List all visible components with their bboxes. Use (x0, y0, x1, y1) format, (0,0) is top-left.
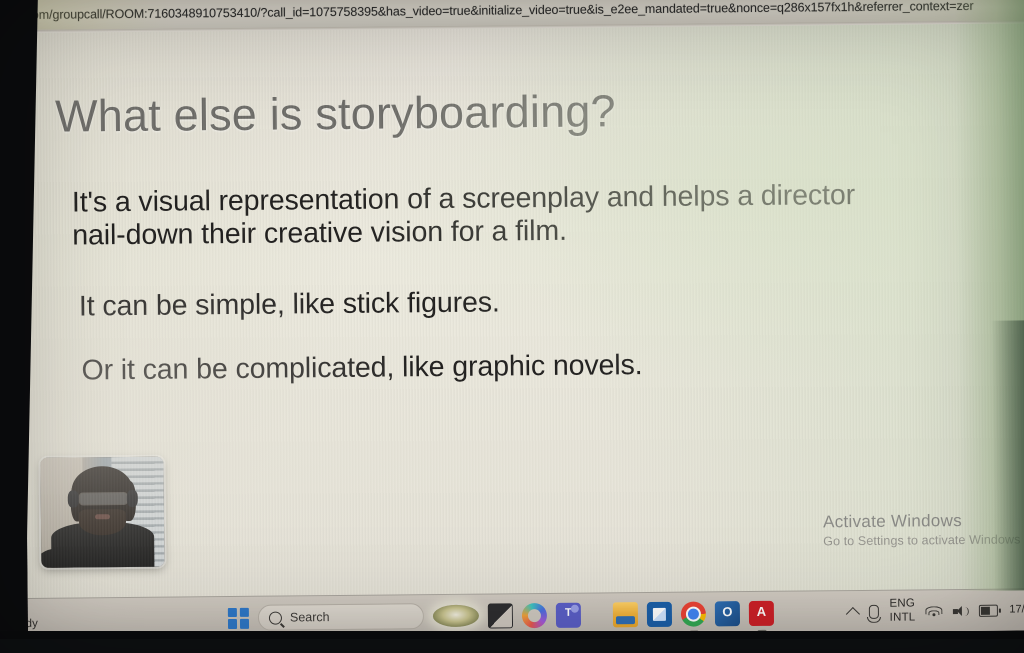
outlook-icon[interactable] (715, 601, 740, 626)
adobe-acrobat-icon[interactable] (749, 600, 774, 625)
watermark-subtitle: Go to Settings to activate Windows (823, 532, 1023, 548)
volume-icon[interactable] (953, 604, 968, 617)
start-tile-3 (228, 619, 237, 628)
file-explorer-icon[interactable] (613, 602, 638, 627)
slide-title: What else is storyboarding? (55, 85, 616, 142)
start-tile-2 (239, 607, 248, 616)
headphone-right-cup-icon (127, 490, 138, 507)
taskbar-search-box[interactable]: Search (258, 603, 424, 631)
slide-body-line-2: nail-down their creative vision for a fi… (72, 215, 567, 253)
microsoft-teams-icon[interactable] (556, 602, 581, 627)
start-button[interactable] (228, 607, 249, 628)
battery-icon[interactable] (979, 605, 998, 617)
address-bar-url[interactable]: er.com/groupcall/ROOM:7160348910753410/?… (22, 0, 974, 22)
search-input[interactable]: Search (290, 610, 330, 624)
chevron-up-icon[interactable] (846, 606, 860, 620)
monitor-screen: er.com/groupcall/ROOM:7160348910753410/?… (22, 0, 1024, 640)
start-tile-1 (228, 607, 237, 616)
slide-body-line-4: Or it can be complicated, like graphic n… (81, 349, 642, 387)
copilot-icon[interactable] (522, 602, 547, 627)
google-chrome-icon[interactable] (681, 601, 706, 626)
microsoft-store-icon[interactable] (647, 601, 672, 626)
language-line-1: ENG (889, 598, 915, 612)
monitor-bezel-bottom-inner (0, 639, 1024, 653)
self-view-video-thumbnail[interactable] (40, 457, 164, 568)
wifi-dot (933, 613, 936, 616)
headphone-left-cup-icon (68, 490, 79, 507)
system-tray: ENG INTL 17/03/ (847, 589, 1024, 633)
microphone-icon[interactable] (869, 605, 879, 619)
person-glasses (79, 492, 128, 505)
language-indicator[interactable]: ENG INTL (889, 598, 915, 625)
volume-wave (961, 606, 969, 615)
slide-body-line-1: It's a visual representation of a screen… (72, 179, 855, 220)
start-tile-4 (240, 619, 249, 628)
clock-date[interactable]: 17/03/ (1009, 603, 1024, 617)
photographed-screen: er.com/groupcall/ROOM:7160348910753410/?… (0, 0, 1024, 653)
search-icon (269, 611, 282, 624)
language-line-2: INTL (890, 611, 916, 625)
screen-glare-spot (433, 605, 479, 627)
wifi-icon[interactable] (926, 605, 942, 617)
shared-presentation-slide: What else is storyboarding? It's a visua… (22, 23, 1024, 598)
slide-body-line-3: It can be simple, like stick figures. (79, 286, 500, 323)
person-mouth (95, 514, 110, 519)
activate-windows-watermark: Activate Windows Go to Settings to activ… (823, 510, 1023, 548)
watermark-title: Activate Windows (823, 510, 1023, 532)
task-view-icon[interactable] (488, 603, 513, 628)
